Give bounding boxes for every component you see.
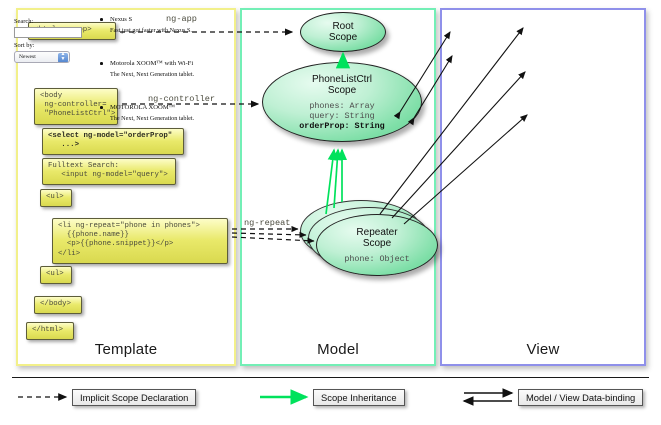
phone-snippet: The Next, Next Generation tablet. — [110, 115, 194, 122]
legend-item-scope-inheritance: Scope Inheritance — [313, 389, 405, 406]
phone-name[interactable]: MOTOROLA XOOM™ — [110, 104, 175, 111]
view-search-label: Search: — [14, 18, 33, 25]
bullet-icon — [100, 62, 103, 65]
phone-snippet: The Next, Next Generation tablet. — [110, 71, 194, 78]
angular-scope-diagram: Template Model View <html ng-app> <body … — [0, 0, 661, 425]
search-input[interactable] — [14, 27, 82, 38]
view-sort-label: Sort by: — [14, 42, 34, 49]
view-mock: Search: Sort by: Newest ▲▼ Nexus S Fast … — [8, 8, 653, 395]
bullet-icon — [100, 106, 103, 109]
bullet-icon — [100, 18, 103, 21]
sort-by-select[interactable]: Newest ▲▼ — [14, 51, 70, 63]
chevron-updown-icon: ▲▼ — [58, 53, 68, 63]
sort-by-selected-value: Newest — [19, 54, 36, 60]
legend-divider — [12, 377, 649, 378]
legend-item-model-view-data-binding: Model / View Data-binding — [518, 389, 643, 406]
phone-snippet: Fast just got faster with Nexus S. — [110, 27, 192, 34]
phone-name[interactable]: Nexus S — [110, 16, 132, 23]
phone-name[interactable]: Motorola XOOM™ with Wi-Fi — [110, 60, 193, 67]
legend-item-implicit-scope-declaration: Implicit Scope Declaration — [72, 389, 196, 406]
